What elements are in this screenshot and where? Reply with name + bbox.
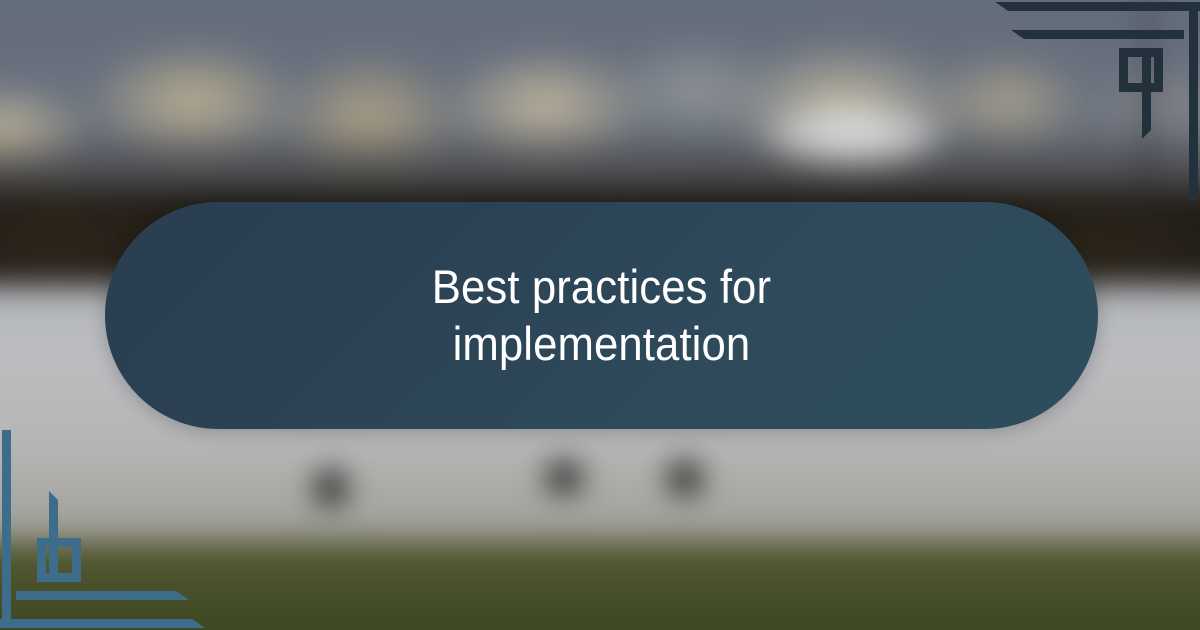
page-title: Best practices for implementation [432,259,771,372]
headline-card: Best practices for implementation [105,202,1098,429]
banner-stage: Best practices for implementation [0,0,1200,630]
